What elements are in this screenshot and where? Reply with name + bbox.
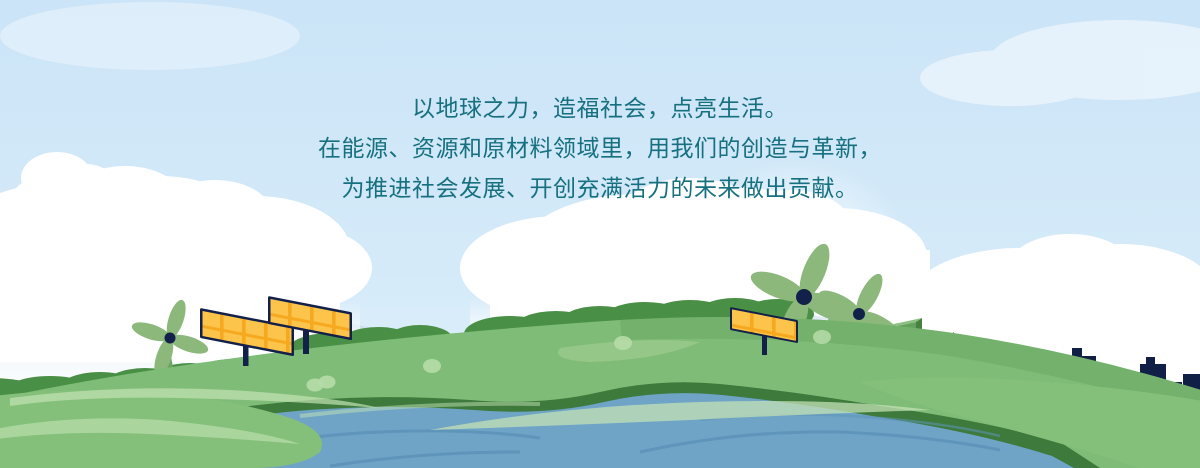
grass-spot-7 xyxy=(813,330,831,344)
turbine-hub xyxy=(165,333,176,344)
landscape-illustration xyxy=(0,0,1200,468)
grass-spot-1 xyxy=(423,359,441,373)
turbine-hub xyxy=(853,308,865,320)
grass-spot-4 xyxy=(614,336,632,350)
cloud-wisp-top-left xyxy=(0,2,300,70)
turbine-hub xyxy=(796,289,812,305)
eco-landscape-banner: 以地球之力，造福社会，点亮生活。 在能源、资源和原材料领域里，用我们的创造与革新… xyxy=(0,0,1200,468)
